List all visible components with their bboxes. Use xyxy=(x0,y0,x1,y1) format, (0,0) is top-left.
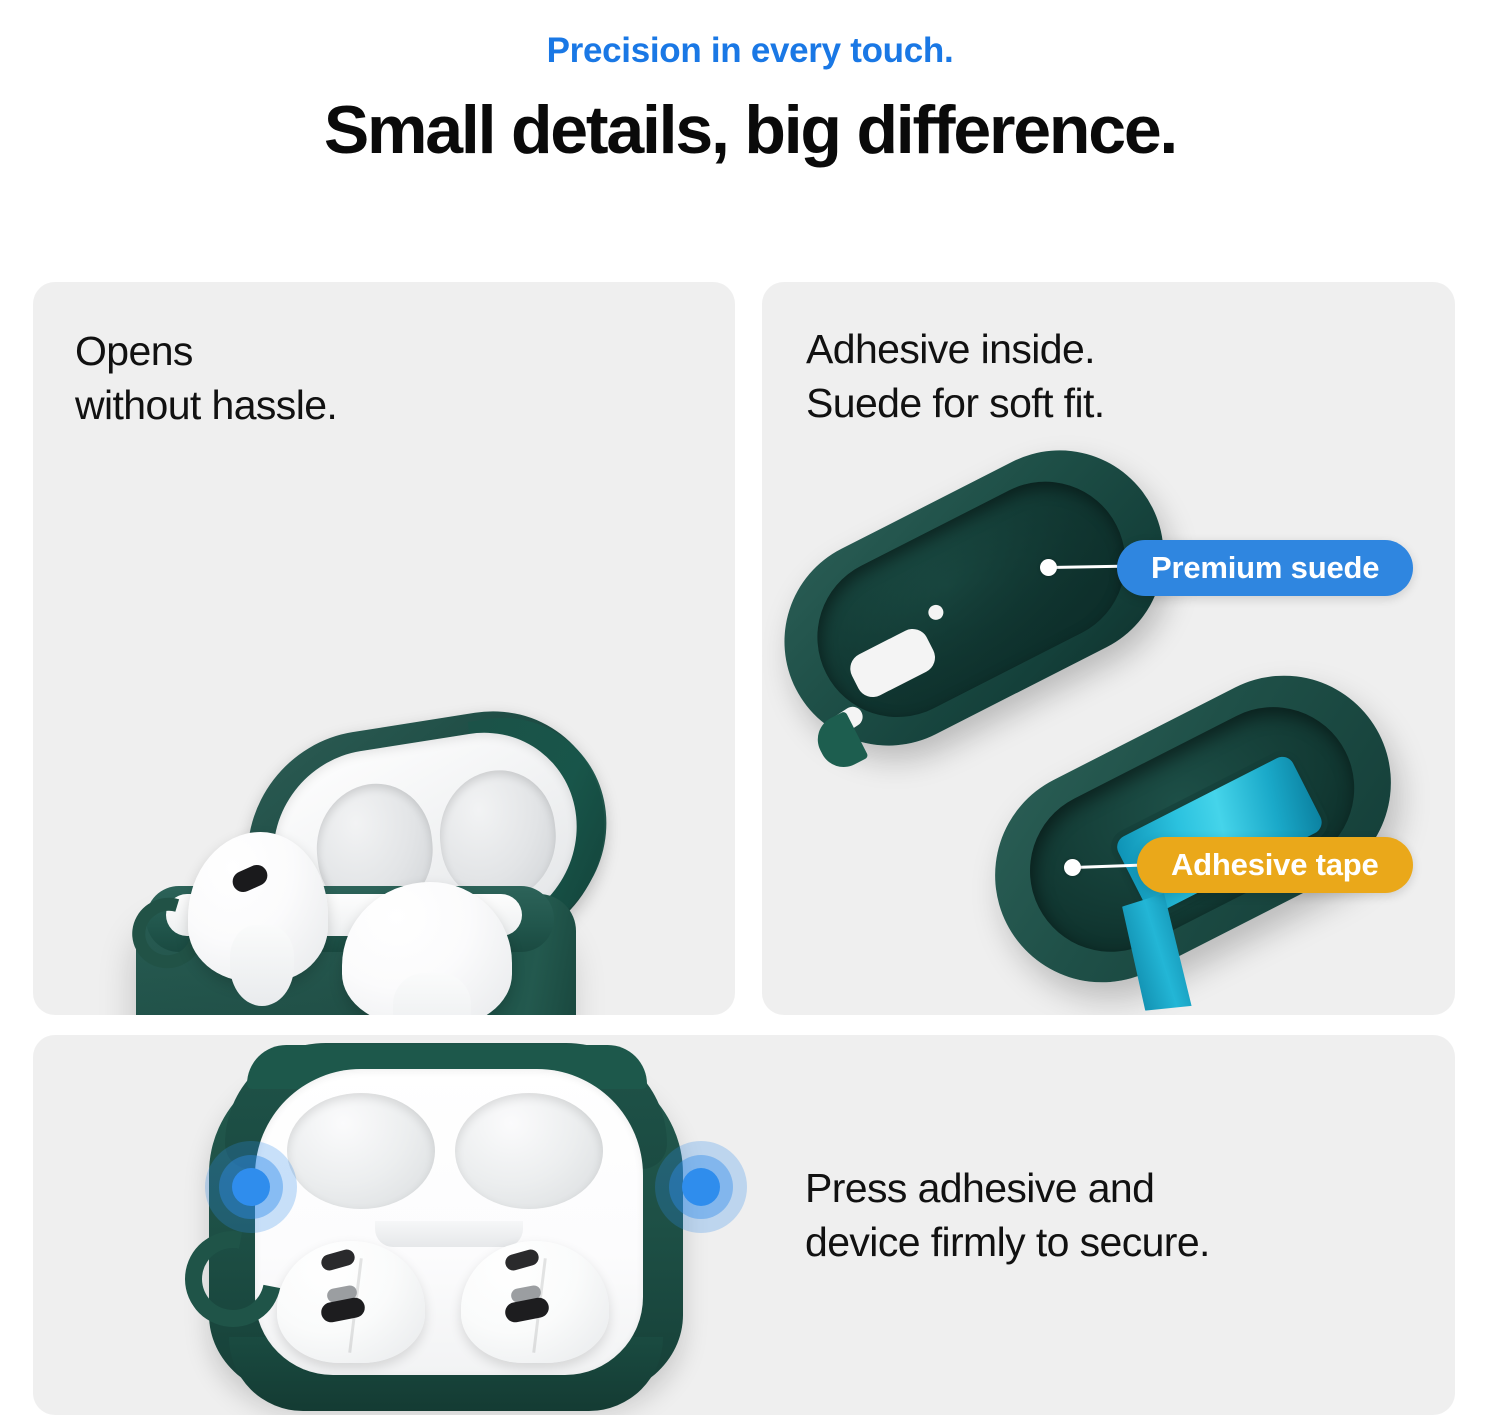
press-indicator-right-icon xyxy=(655,1141,747,1233)
leader-dot-tape xyxy=(1064,859,1081,876)
press-indicator-left-icon xyxy=(205,1141,297,1233)
feature-card-adhesive: Adhesive inside. Suede for soft fit. Pre… xyxy=(762,282,1455,1015)
case-shell-upper xyxy=(762,415,1199,782)
callout-badge-premium-suede: Premium suede xyxy=(1117,540,1413,596)
card-title-adhesive: Adhesive inside. Suede for soft fit. xyxy=(806,322,1105,430)
eyebrow-text: Precision in every touch. xyxy=(0,0,1500,72)
earbud-left-stem xyxy=(230,925,294,1006)
seated-earbud-right xyxy=(461,1241,609,1363)
case-shell-lower xyxy=(958,639,1428,1015)
press-indicator-left-core xyxy=(232,1168,270,1206)
adhesive-tape-peel-tab xyxy=(1098,887,1215,1015)
lid-socket-right xyxy=(455,1093,603,1209)
seated-earbud-left xyxy=(277,1241,425,1363)
feature-card-opens: Opens without hassle. xyxy=(33,282,735,1015)
press-indicator-right-core xyxy=(682,1168,720,1206)
earbud-right xyxy=(342,882,512,1015)
card-title-press: Press adhesive and device firmly to secu… xyxy=(805,1161,1210,1269)
leader-dot-suede xyxy=(1040,559,1057,576)
page-headline: Small details, big difference. xyxy=(0,72,1500,172)
illustration-case-front-view-open xyxy=(185,1043,725,1411)
page-header: Precision in every touch. Small details,… xyxy=(0,0,1500,260)
earbud-left xyxy=(188,832,328,982)
airpods-case-open-group xyxy=(128,712,708,1015)
callout-badge-adhesive-tape: Adhesive tape xyxy=(1137,837,1413,893)
lid-socket-left xyxy=(287,1093,435,1209)
card-title-opens: Opens without hassle. xyxy=(75,324,337,432)
feature-card-press: Press adhesive and device firmly to secu… xyxy=(33,1035,1455,1415)
case-interior-white xyxy=(255,1069,643,1375)
